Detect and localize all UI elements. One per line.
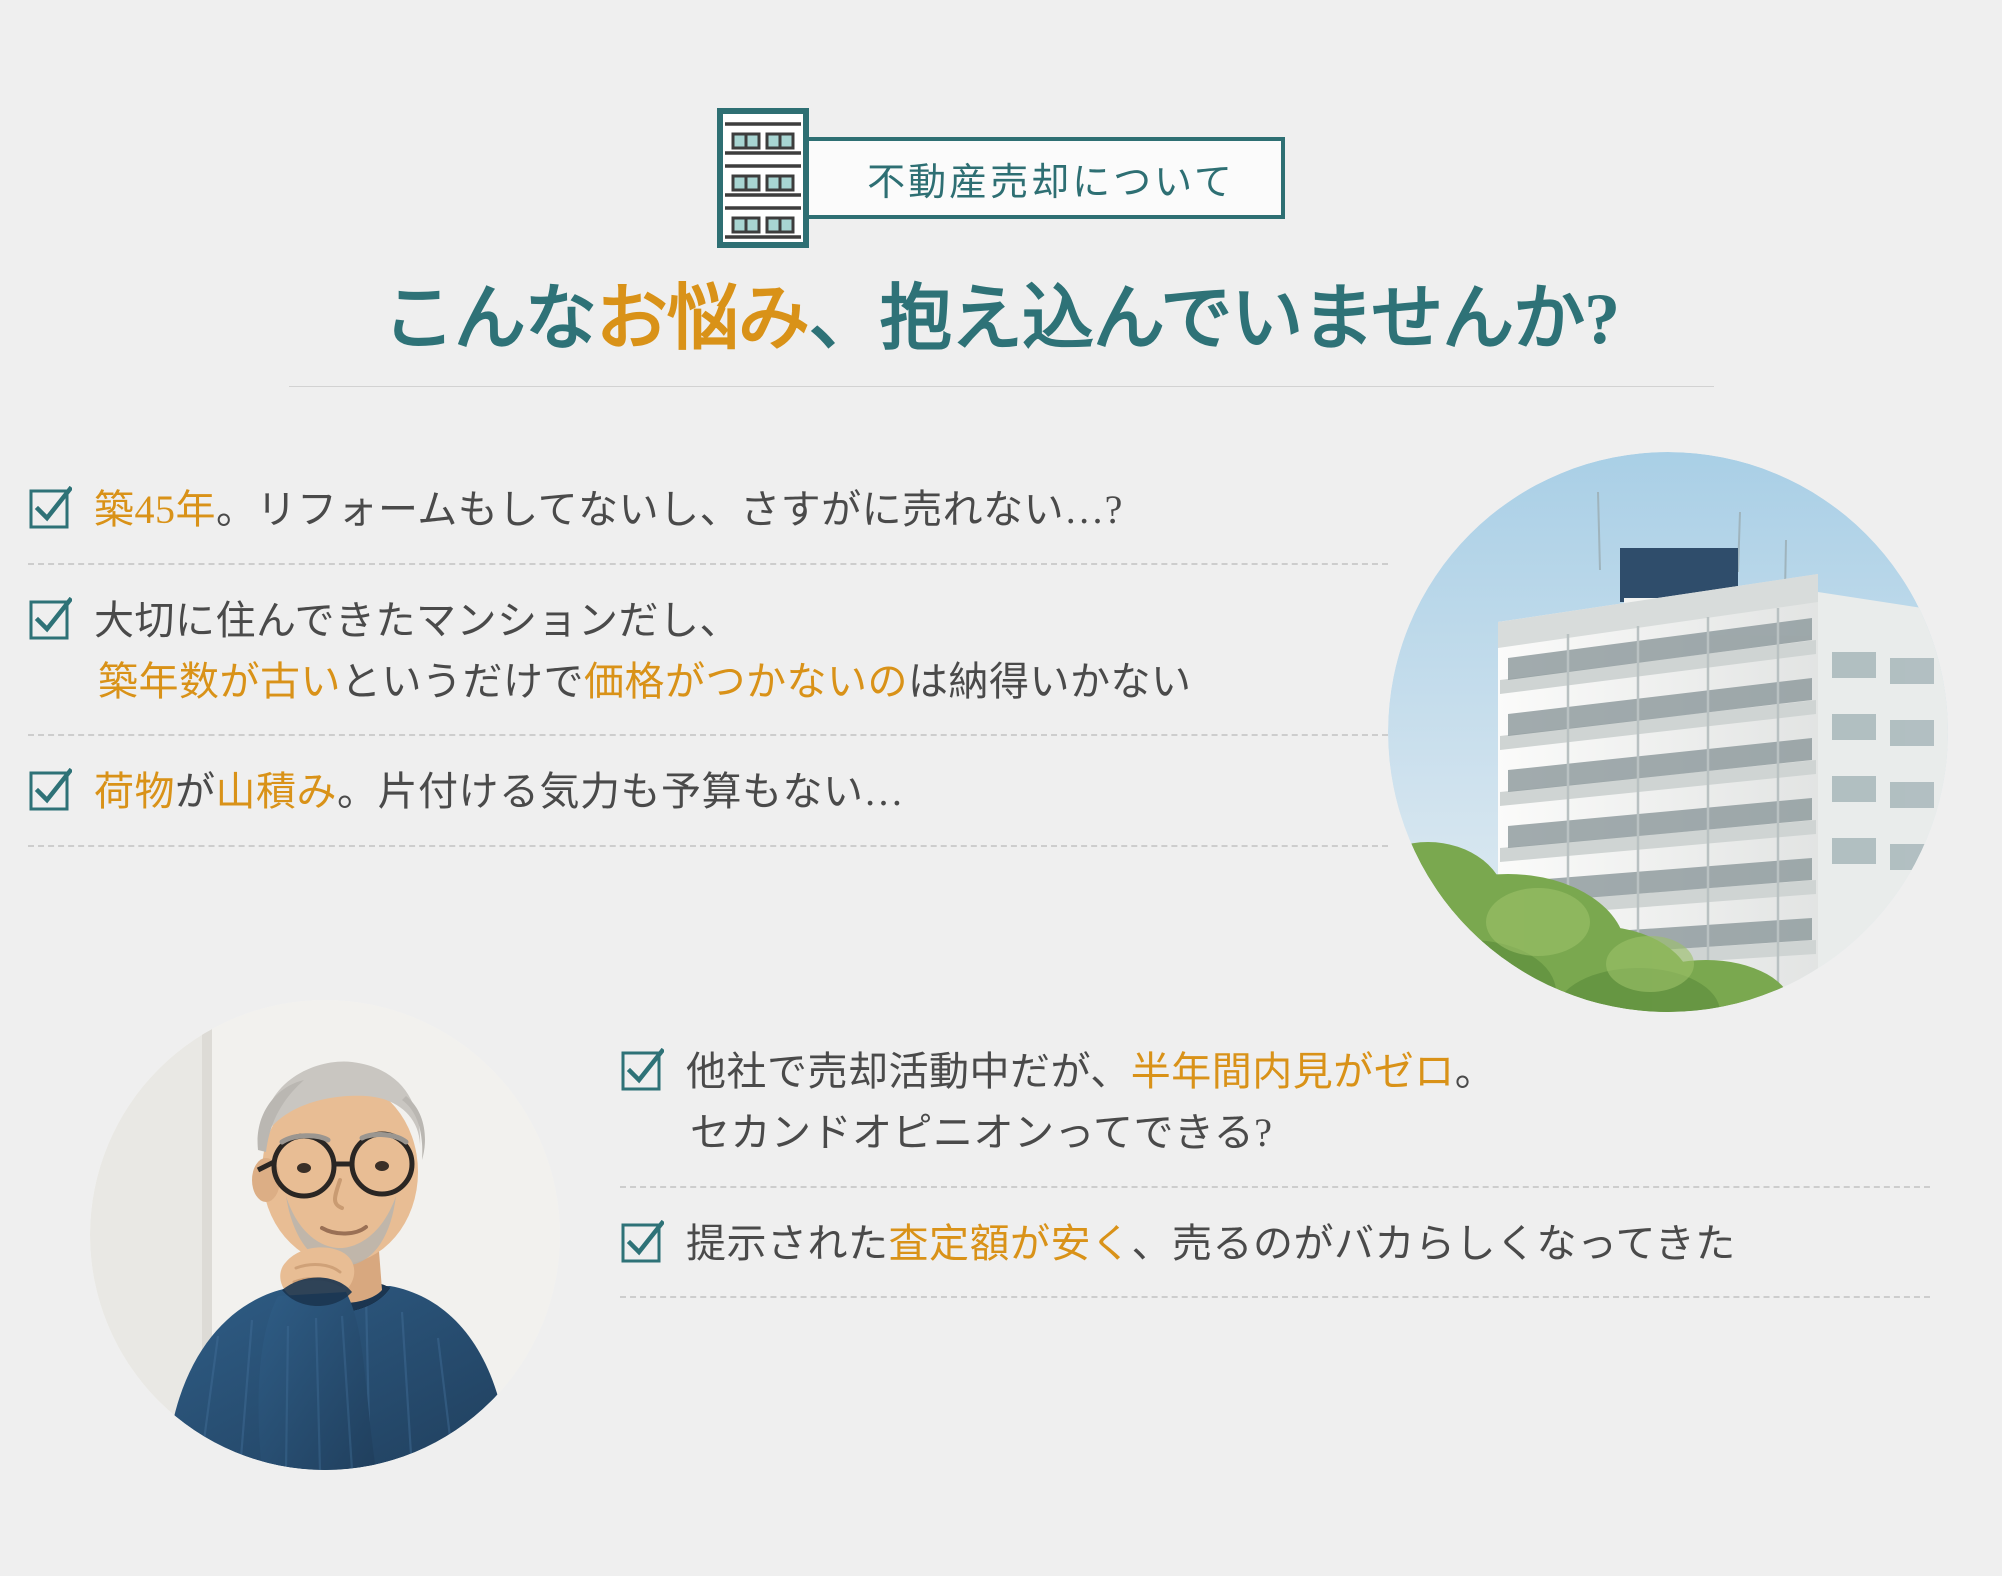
list-item: 築45年。リフォームもしてないし、さすがに売れない…? xyxy=(28,478,1388,565)
concern-low-appraisal-seg-2: 、売るのがバカらしくなってきた xyxy=(1132,1221,1736,1266)
list-item: 他社で売却活動中だが、半年間内見がゼロ。 セカンドオピニオンってできる? xyxy=(620,1040,1930,1188)
apartment-building-icon xyxy=(717,108,809,248)
concern-belongings-seg-0: 荷物 xyxy=(94,769,175,814)
concern-low-appraisal-seg-1: 査定額が安く xyxy=(889,1221,1132,1266)
concern-no-viewings-seg-1: 半年間内見がゼロ xyxy=(1131,1049,1455,1094)
badge-label: 不動産売却について xyxy=(867,151,1235,206)
list-item-text: 荷物が山積み。片付ける気力も予算もない… xyxy=(94,760,904,823)
page-title: こんなお悩み、抱え込んでいませんか? xyxy=(383,274,1619,364)
list-item-text: 提示された査定額が安く、売るのがバカらしくなってきた xyxy=(686,1212,1736,1275)
list-item-text: 大切に住んできたマンションだし、 築年数が古いというだけで価格がつかないのは納得… xyxy=(94,589,1192,713)
concern-belongings-seg-1: が xyxy=(175,769,216,814)
concerns-list-upper: 築45年。リフォームもしてないし、さすがに売れない…? 大切に住んできたマンショ… xyxy=(28,478,1388,871)
list-item: 大切に住んできたマンションだし、 築年数が古いというだけで価格がつかないのは納得… xyxy=(28,589,1388,737)
checkbox-checked-icon xyxy=(620,1048,664,1092)
list-item: 提示された査定額が安く、売るのがバカらしくなってきた xyxy=(620,1212,1930,1299)
checkbox-checked-icon xyxy=(28,597,72,641)
concern-age-45-seg-0: 築45年 xyxy=(94,487,216,532)
concern-no-viewings-seg-0: 他社で売却活動中だが、 xyxy=(686,1049,1131,1094)
heading-divider xyxy=(289,386,1714,387)
section-header: 不動産売却について こんなお悩み、抱え込んでいませんか? xyxy=(0,0,2002,387)
list-item-text: 築45年。リフォームもしてないし、さすがに売れない…? xyxy=(94,478,1123,541)
concern-age-45-seg-1: 。リフォームもしてないし、さすがに売れない…? xyxy=(216,487,1123,532)
page-title-part-1: こんな xyxy=(383,279,596,359)
photo-apartment-building xyxy=(1388,452,1948,1012)
list-item-text: 他社で売却活動中だが、半年間内見がゼロ。 セカンドオピニオンってできる? xyxy=(686,1040,1495,1164)
concern-old-price-seg-0: 大切に住んできたマンションだし、 xyxy=(94,598,740,643)
concern-belongings-seg-2: 山積み xyxy=(216,769,338,814)
checkbox-checked-icon xyxy=(620,1220,664,1264)
photo-thinking-man xyxy=(90,1000,560,1470)
concern-old-price-seg-2: というだけで xyxy=(341,659,584,704)
concern-no-viewings-seg-2: 。 xyxy=(1455,1049,1496,1094)
page-title-part-2: お悩み xyxy=(596,279,809,359)
badge-row: 不動産売却について xyxy=(717,108,1285,248)
concern-old-price-seg-1: 築年数が古い xyxy=(98,659,341,704)
concern-belongings-seg-3: 。片付ける気力も予算もない… xyxy=(337,769,904,814)
checkbox-checked-icon xyxy=(28,768,72,812)
concern-old-price-seg-3: 価格がつかないの xyxy=(584,659,908,704)
concerns-list-lower: 他社で売却活動中だが、半年間内見がゼロ。 セカンドオピニオンってできる? 提示さ… xyxy=(620,1040,1930,1322)
page-title-part-3: 、抱え込んでいませんか? xyxy=(809,279,1619,359)
concern-no-viewings-seg-3: セカンドオピニオンってできる? xyxy=(690,1110,1272,1155)
list-item: 荷物が山積み。片付ける気力も予算もない… xyxy=(28,760,1388,847)
concern-low-appraisal-seg-0: 提示された xyxy=(686,1221,889,1266)
checkbox-checked-icon xyxy=(28,486,72,530)
badge-box: 不動産売却について xyxy=(801,137,1285,219)
concern-old-price-seg-4: は納得いかない xyxy=(908,659,1192,704)
